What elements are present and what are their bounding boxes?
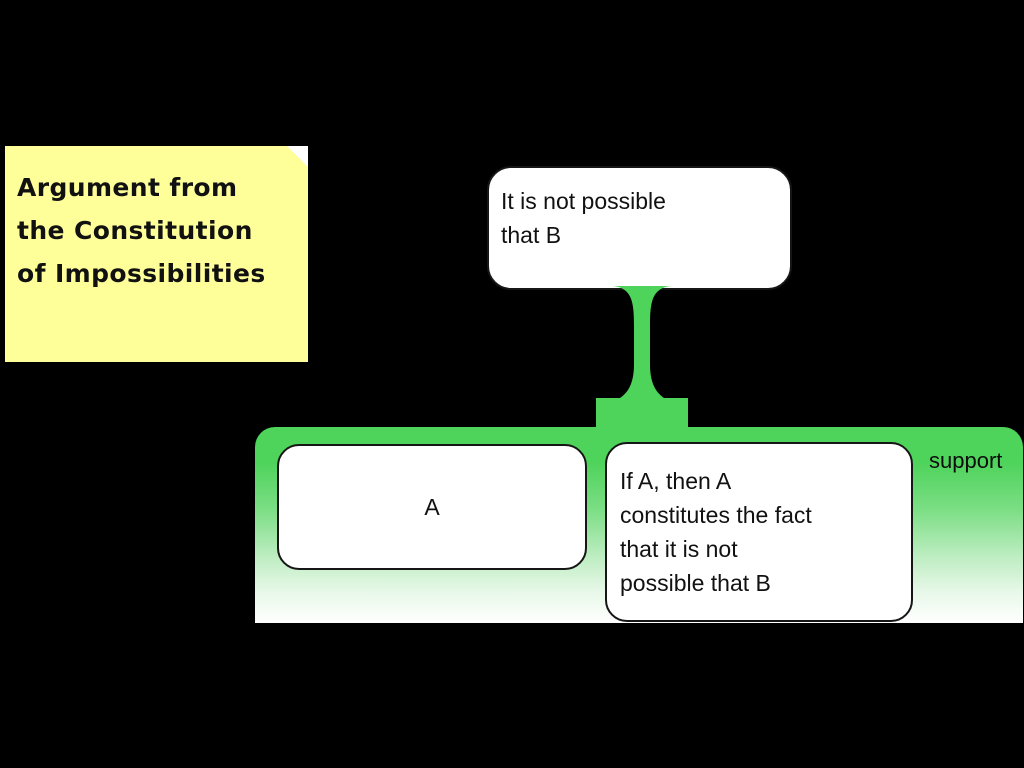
argument-title-note[interactable]: Argument from the Constitution of Imposs… — [5, 146, 308, 362]
support-connector-shape — [596, 286, 688, 432]
premise-node-a[interactable]: A — [277, 444, 587, 570]
claim-node[interactable]: It is not possible that B — [487, 166, 792, 290]
claim-node-label: It is not possible that B — [501, 184, 780, 252]
support-connector-arrow[interactable] — [596, 286, 688, 432]
argument-title-text: Argument from the Constitution of Imposs… — [17, 166, 294, 295]
diagram-canvas: Argument from the Constitution of Imposs… — [0, 0, 1024, 768]
premise-node-a-label: A — [279, 446, 585, 568]
support-relation-label: support — [929, 448, 1002, 474]
premise-node-b-label: If A, then A constitutes the fact that i… — [620, 464, 901, 600]
premise-node-b[interactable]: If A, then A constitutes the fact that i… — [605, 442, 913, 622]
